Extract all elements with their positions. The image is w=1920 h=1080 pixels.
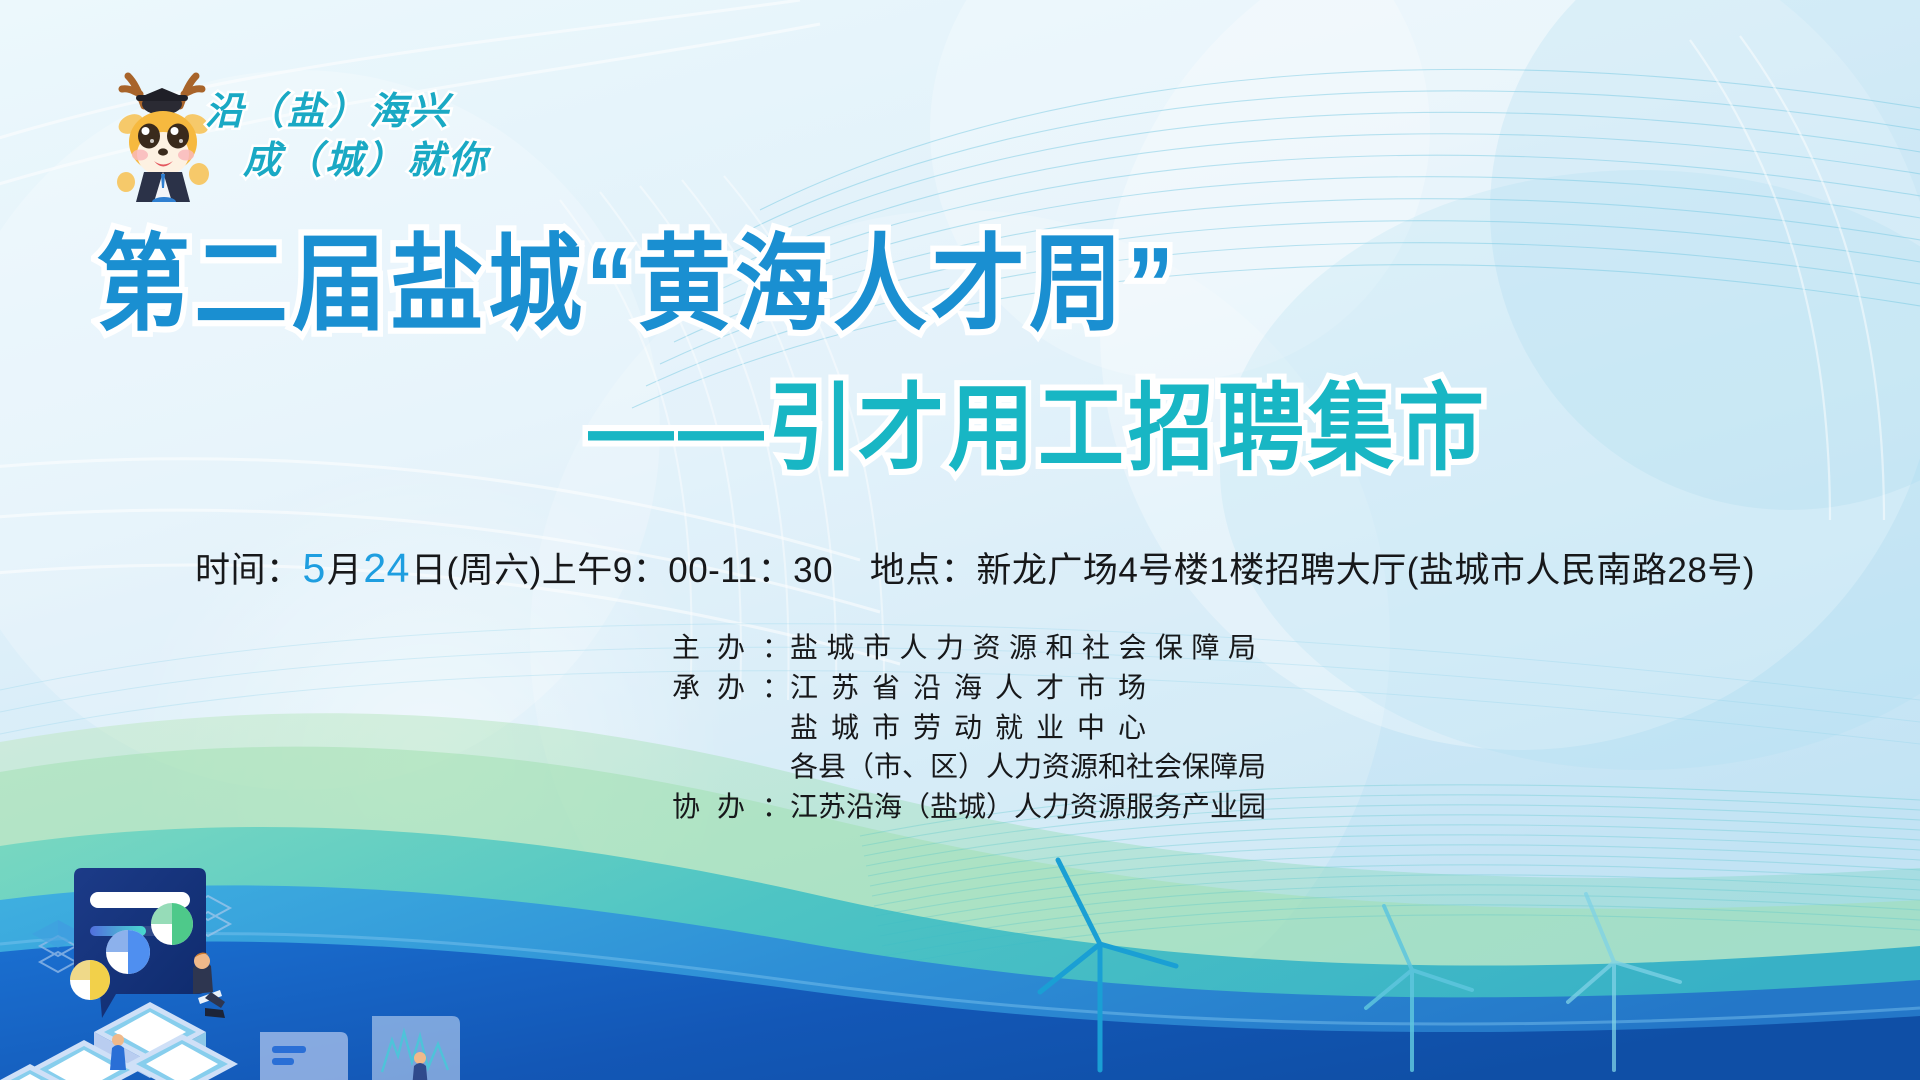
organizer-row: 主 办 ： 盐城市人力资源和社会保障局 <box>672 628 1266 668</box>
place-value: 新龙广场4号楼1楼招聘大厅(盐城市人民南路28号) <box>976 542 1755 593</box>
organizer-value: 盐城市劳动就业中心 <box>790 708 1159 748</box>
slogan-line-2: 成（城）就你 <box>243 137 545 186</box>
standing-person-figure <box>412 1052 428 1080</box>
wind-turbines-illustration <box>980 820 1740 1080</box>
event-meta-row: 时间： 5 月 24 日(周六)上午9：00-11：30 地点： 新龙广场4号楼… <box>195 542 1755 593</box>
organizer-value: 盐城市人力资源和社会保障局 <box>790 628 1265 668</box>
organizer-row: 各县（市、区）人力资源和社会保障局 <box>672 747 1266 787</box>
event-place: 地点： 新龙广场4号楼1楼招聘大厅(盐城市人民南路28号) <box>870 542 1755 593</box>
time-rest: 日(周六)上午9：00-11：30 <box>411 542 833 593</box>
standing-person-figure <box>110 1034 126 1070</box>
wind-turbine-icon <box>1366 906 1472 1070</box>
organizer-value: 各县（市、区）人力资源和社会保障局 <box>790 747 1266 787</box>
brand-slogan: 沿（盐）海兴 成（城）就你 <box>205 88 545 203</box>
person-with-laptop-figure <box>193 952 225 1018</box>
event-time: 时间： 5 月 24 日(周六)上午9：00-11：30 <box>195 542 833 593</box>
organizer-block: 主 办 ： 盐城市人力资源和社会保障局 承 办 ： 江苏省沿海人才市场 盐城市劳… <box>672 628 1266 827</box>
wind-turbine-icon <box>1040 860 1176 1070</box>
wind-turbine-icon <box>1568 894 1680 1070</box>
place-label: 地点： <box>870 542 977 593</box>
chat-bubble-chart-icon <box>70 868 206 1018</box>
time-month-unit: 月 <box>327 542 363 593</box>
time-day-number: 24 <box>362 545 411 592</box>
time-month-number: 5 <box>302 545 327 592</box>
organizer-label: 承 办 ： <box>672 668 790 708</box>
slogan-line-1: 沿（盐）海兴 <box>205 88 545 137</box>
poster-title-line-2: ——引才用工招聘集市 <box>588 382 1488 477</box>
poster-canvas: 沿（盐）海兴 成（城）就你 第二届盐城“黄海人才周” ——引才用工招聘集市 时间… <box>0 0 1920 1080</box>
organizer-value: 江苏省沿海人才市场 <box>790 668 1159 708</box>
poster-title-line-1: 第二届盐城“黄海人才周” <box>96 232 1178 337</box>
organizer-label: 主 办 ： <box>672 628 790 668</box>
time-label: 时间： <box>195 542 302 593</box>
organizer-row: 盐城市劳动就业中心 <box>672 708 1266 748</box>
organizer-label: 协 办 ： <box>672 787 790 827</box>
isometric-data-center-illustration <box>0 740 560 1080</box>
organizer-row: 承 办 ： 江苏省沿海人才市场 <box>672 668 1266 708</box>
chart-card-icon <box>260 1032 348 1080</box>
